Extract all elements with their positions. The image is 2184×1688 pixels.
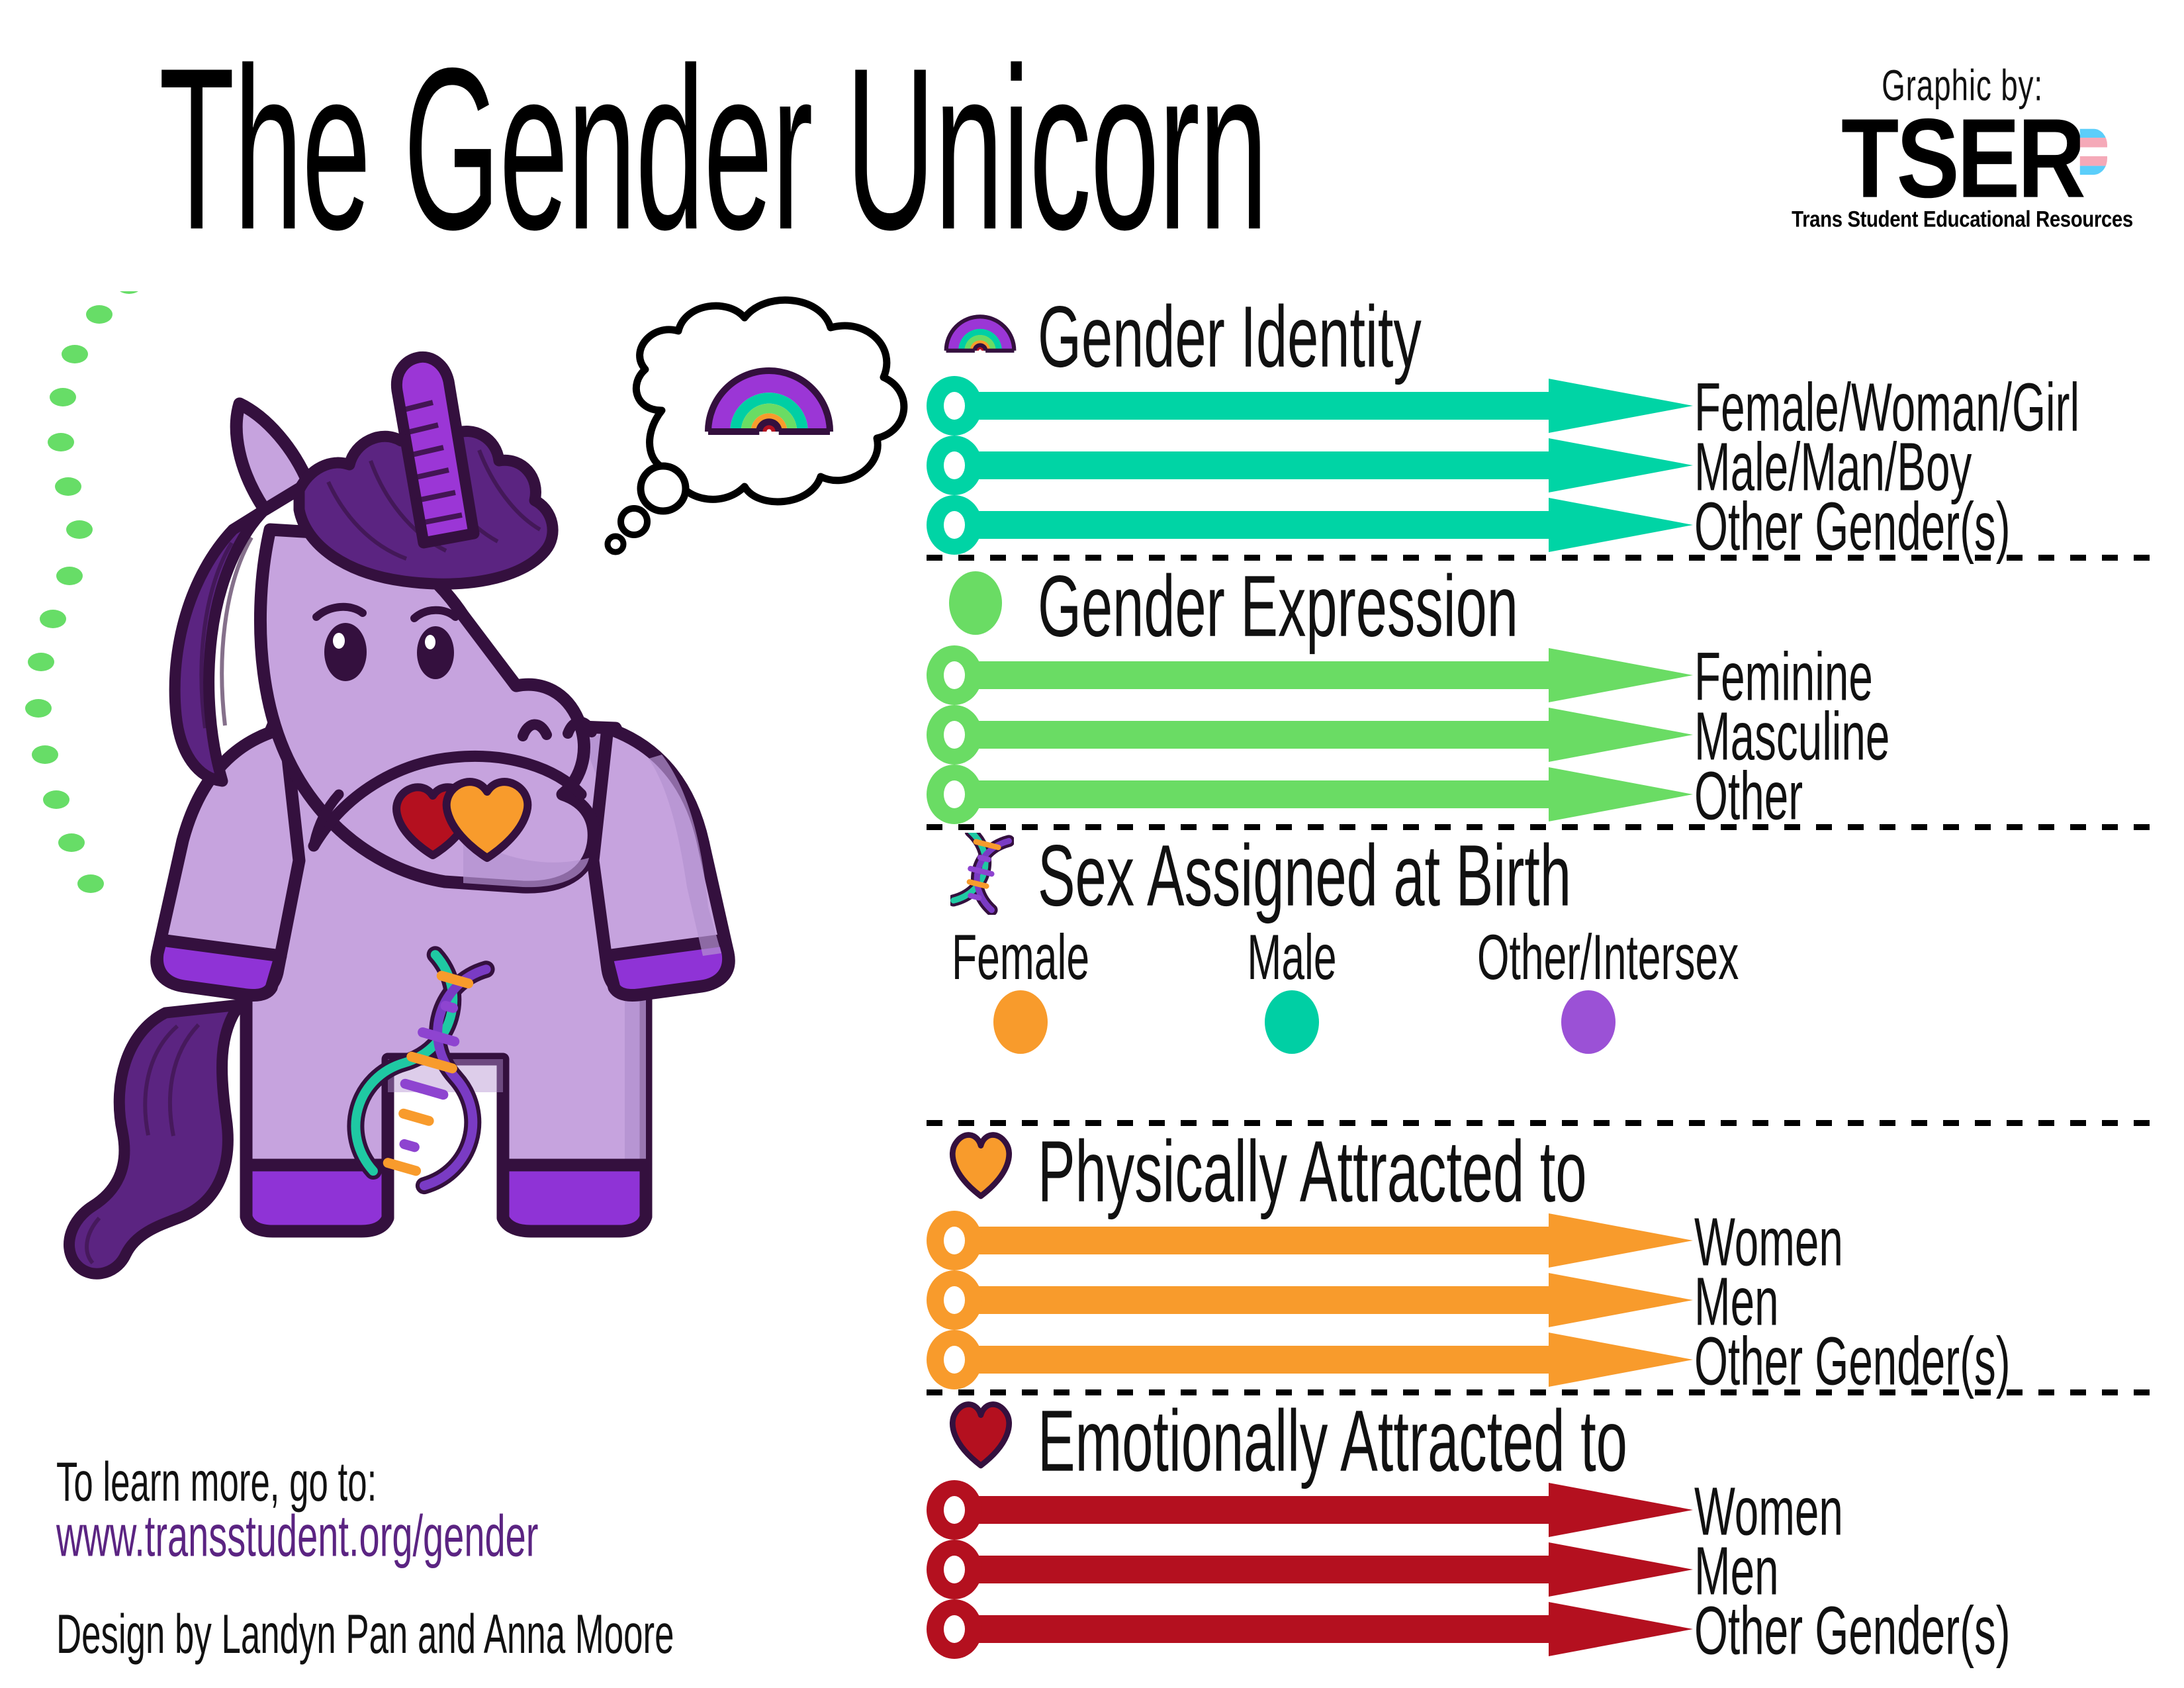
spectrum-row[interactable]: Other <box>927 765 2158 824</box>
spectrum-arrow[interactable] <box>927 1599 1694 1659</box>
spectrum-label: Other Gender(s) <box>1694 1594 2011 1669</box>
section-title: Physically Attracted to <box>1038 1123 1587 1220</box>
spectrum-row[interactable]: Male/Man/Boy <box>927 436 2158 495</box>
sab-choices: Female Male Other/Intersex <box>927 921 2158 1120</box>
section-header: Gender Identity <box>927 291 2158 376</box>
spectrum-row[interactable]: Women <box>927 1480 2158 1540</box>
spectrum-arrow[interactable] <box>927 1211 1694 1270</box>
spectrum-row[interactable]: Women <box>927 1211 2158 1270</box>
sab-choice-male[interactable]: Male <box>1186 921 1398 1054</box>
spectrum-row[interactable]: Other Gender(s) <box>927 495 2158 555</box>
section-sex-assigned-at-birth: Sex Assigned at Birth Female Male Other/… <box>927 830 2158 1120</box>
section-emotionally-attracted-to: Emotionally Attracted to Women <box>927 1395 2158 1659</box>
spectrum-arrow[interactable] <box>927 376 1694 436</box>
unicorn-svg <box>0 291 913 1383</box>
section-header: Gender Expression <box>927 561 2158 645</box>
section-gender-expression: Gender Expression Feminine <box>927 561 2158 824</box>
spectrum-arrow[interactable] <box>927 436 1694 495</box>
spectrum-arrow[interactable] <box>927 495 1694 555</box>
section-header: Sex Assigned at Birth <box>927 830 2158 921</box>
rainbow-icon <box>941 297 1019 371</box>
sab-label: Female <box>936 921 1105 992</box>
unicorn-tail <box>69 1005 240 1274</box>
website-url-link[interactable]: www.transstudent.org/gender <box>56 1503 538 1570</box>
spectrum-arrow[interactable] <box>927 1330 1694 1389</box>
spectrum-column: Gender Identity Female/Woman/Girl <box>927 291 2158 1659</box>
sab-dot-other-intersex[interactable] <box>1561 990 1615 1054</box>
tser-logo-block: Graphic by: TSER Trans Student Education… <box>1777 60 2148 230</box>
tser-subtitle: Trans Student Educational Resources <box>1781 207 2144 233</box>
spectrum-arrow[interactable] <box>927 1540 1694 1599</box>
spectrum-label: Other <box>1694 759 1803 834</box>
sab-label: Other/Intersex <box>1477 921 1700 992</box>
green-dot-arc <box>25 291 142 893</box>
section-physically-attracted-to: Physically Attracted to Women <box>927 1126 2158 1389</box>
design-credit: Design by Landyn Pan and Anna Moore <box>56 1602 674 1665</box>
sab-dot-female[interactable] <box>993 990 1048 1054</box>
tser-wordmark-text: TSER <box>1841 95 2083 221</box>
section-title: Gender Identity <box>1038 289 1422 385</box>
spectrum-arrow[interactable] <box>927 765 1694 824</box>
spectrum-row[interactable]: Feminine <box>927 645 2158 705</box>
spectrum-label: Other Gender(s) <box>1694 490 2011 565</box>
tser-wordmark: TSER <box>1788 107 2136 211</box>
spectrum-arrow[interactable] <box>927 1270 1694 1330</box>
spectrum-row[interactable]: Other Gender(s) <box>927 1599 2158 1659</box>
spectrum-row[interactable]: Men <box>927 1540 2158 1599</box>
spectrum-arrow[interactable] <box>927 645 1694 705</box>
sab-dot-male[interactable] <box>1265 990 1319 1054</box>
sab-label: Male <box>1207 921 1377 992</box>
spectrum-arrow[interactable] <box>927 1480 1694 1540</box>
spectrum-row[interactable]: Female/Woman/Girl <box>927 376 2158 436</box>
spectrum-row[interactable]: Other Gender(s) <box>927 1330 2158 1389</box>
spectrum-rows: Female/Woman/Girl Male/Man/Boy <box>927 376 2158 555</box>
trans-flag-icon <box>2080 129 2107 175</box>
section-title: Emotionally Attracted to <box>1038 1393 1627 1489</box>
section-header: Emotionally Attracted to <box>927 1395 2158 1480</box>
sab-choice-female[interactable]: Female <box>915 921 1126 1054</box>
spectrum-rows: Women Men Other Gender <box>927 1211 2158 1389</box>
unicorn-illustration <box>0 291 913 1383</box>
spectrum-row[interactable]: Masculine <box>927 705 2158 765</box>
section-title: Gender Expression <box>1038 558 1518 655</box>
spectrum-row[interactable]: Men <box>927 1270 2158 1330</box>
thought-bubble <box>608 300 904 552</box>
spectrum-rows: Women Men Other Gender <box>927 1480 2158 1659</box>
sab-choice-other-intersex[interactable]: Other/Intersex <box>1449 921 1727 1054</box>
section-title: Sex Assigned at Birth <box>1038 827 1571 924</box>
spectrum-rows: Feminine Masculine Oth <box>927 645 2158 824</box>
green-circle-icon <box>941 566 1019 640</box>
heart-orange-icon <box>946 1131 1015 1200</box>
spectrum-label: Other Gender(s) <box>1694 1325 2011 1399</box>
section-gender-identity: Gender Identity Female/Woman/Girl <box>927 291 2158 555</box>
section-header: Physically Attracted to <box>927 1126 2158 1211</box>
dna-icon <box>950 833 1014 915</box>
heart-red-icon <box>946 1401 1015 1470</box>
spectrum-arrow[interactable] <box>927 705 1694 765</box>
page-title: The Gender Unicorn <box>159 33 1267 263</box>
